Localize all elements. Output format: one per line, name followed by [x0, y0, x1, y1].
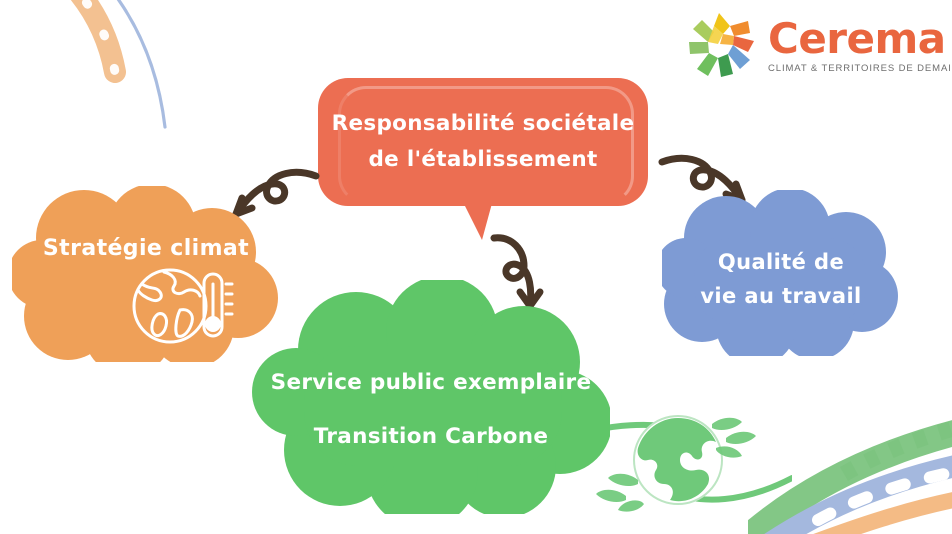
brush-swooshes-bottom-right	[748, 396, 952, 534]
cloud-strategie-climat[interactable]: Stratégie climat	[12, 186, 280, 362]
globe-thermometer-icon	[128, 264, 236, 348]
bubble-line-2: de l'établissement	[368, 142, 597, 178]
bubble-line-1: Responsabilité sociétale	[332, 106, 635, 142]
speech-bubble-text: Responsabilité sociétale de l'établissem…	[318, 78, 648, 206]
slide-canvas: Cerema CLIMAT & TERRITOIRES DE DEMAIN Re…	[0, 0, 952, 534]
cloud-service-public-exemplaire[interactable]: Service public exemplaire Transition Car…	[252, 280, 610, 514]
cerema-logo: Cerema CLIMAT & TERRITOIRES DE DEMAIN	[678, 8, 936, 84]
logo-wordmark: Cerema	[768, 18, 952, 60]
cerema-star-mark	[678, 10, 764, 82]
cloud-shape-blue	[662, 190, 900, 356]
center-speech-bubble[interactable]: Responsabilité sociétale de l'établissem…	[318, 78, 648, 253]
cloud-qualite-vie-au-travail[interactable]: Qualité de vie au travail	[662, 190, 900, 356]
logo-tagline: CLIMAT & TERRITOIRES DE DEMAIN	[768, 63, 952, 75]
concentric-arcs-top-left	[0, 0, 220, 152]
cloud-shape-green	[252, 280, 610, 514]
